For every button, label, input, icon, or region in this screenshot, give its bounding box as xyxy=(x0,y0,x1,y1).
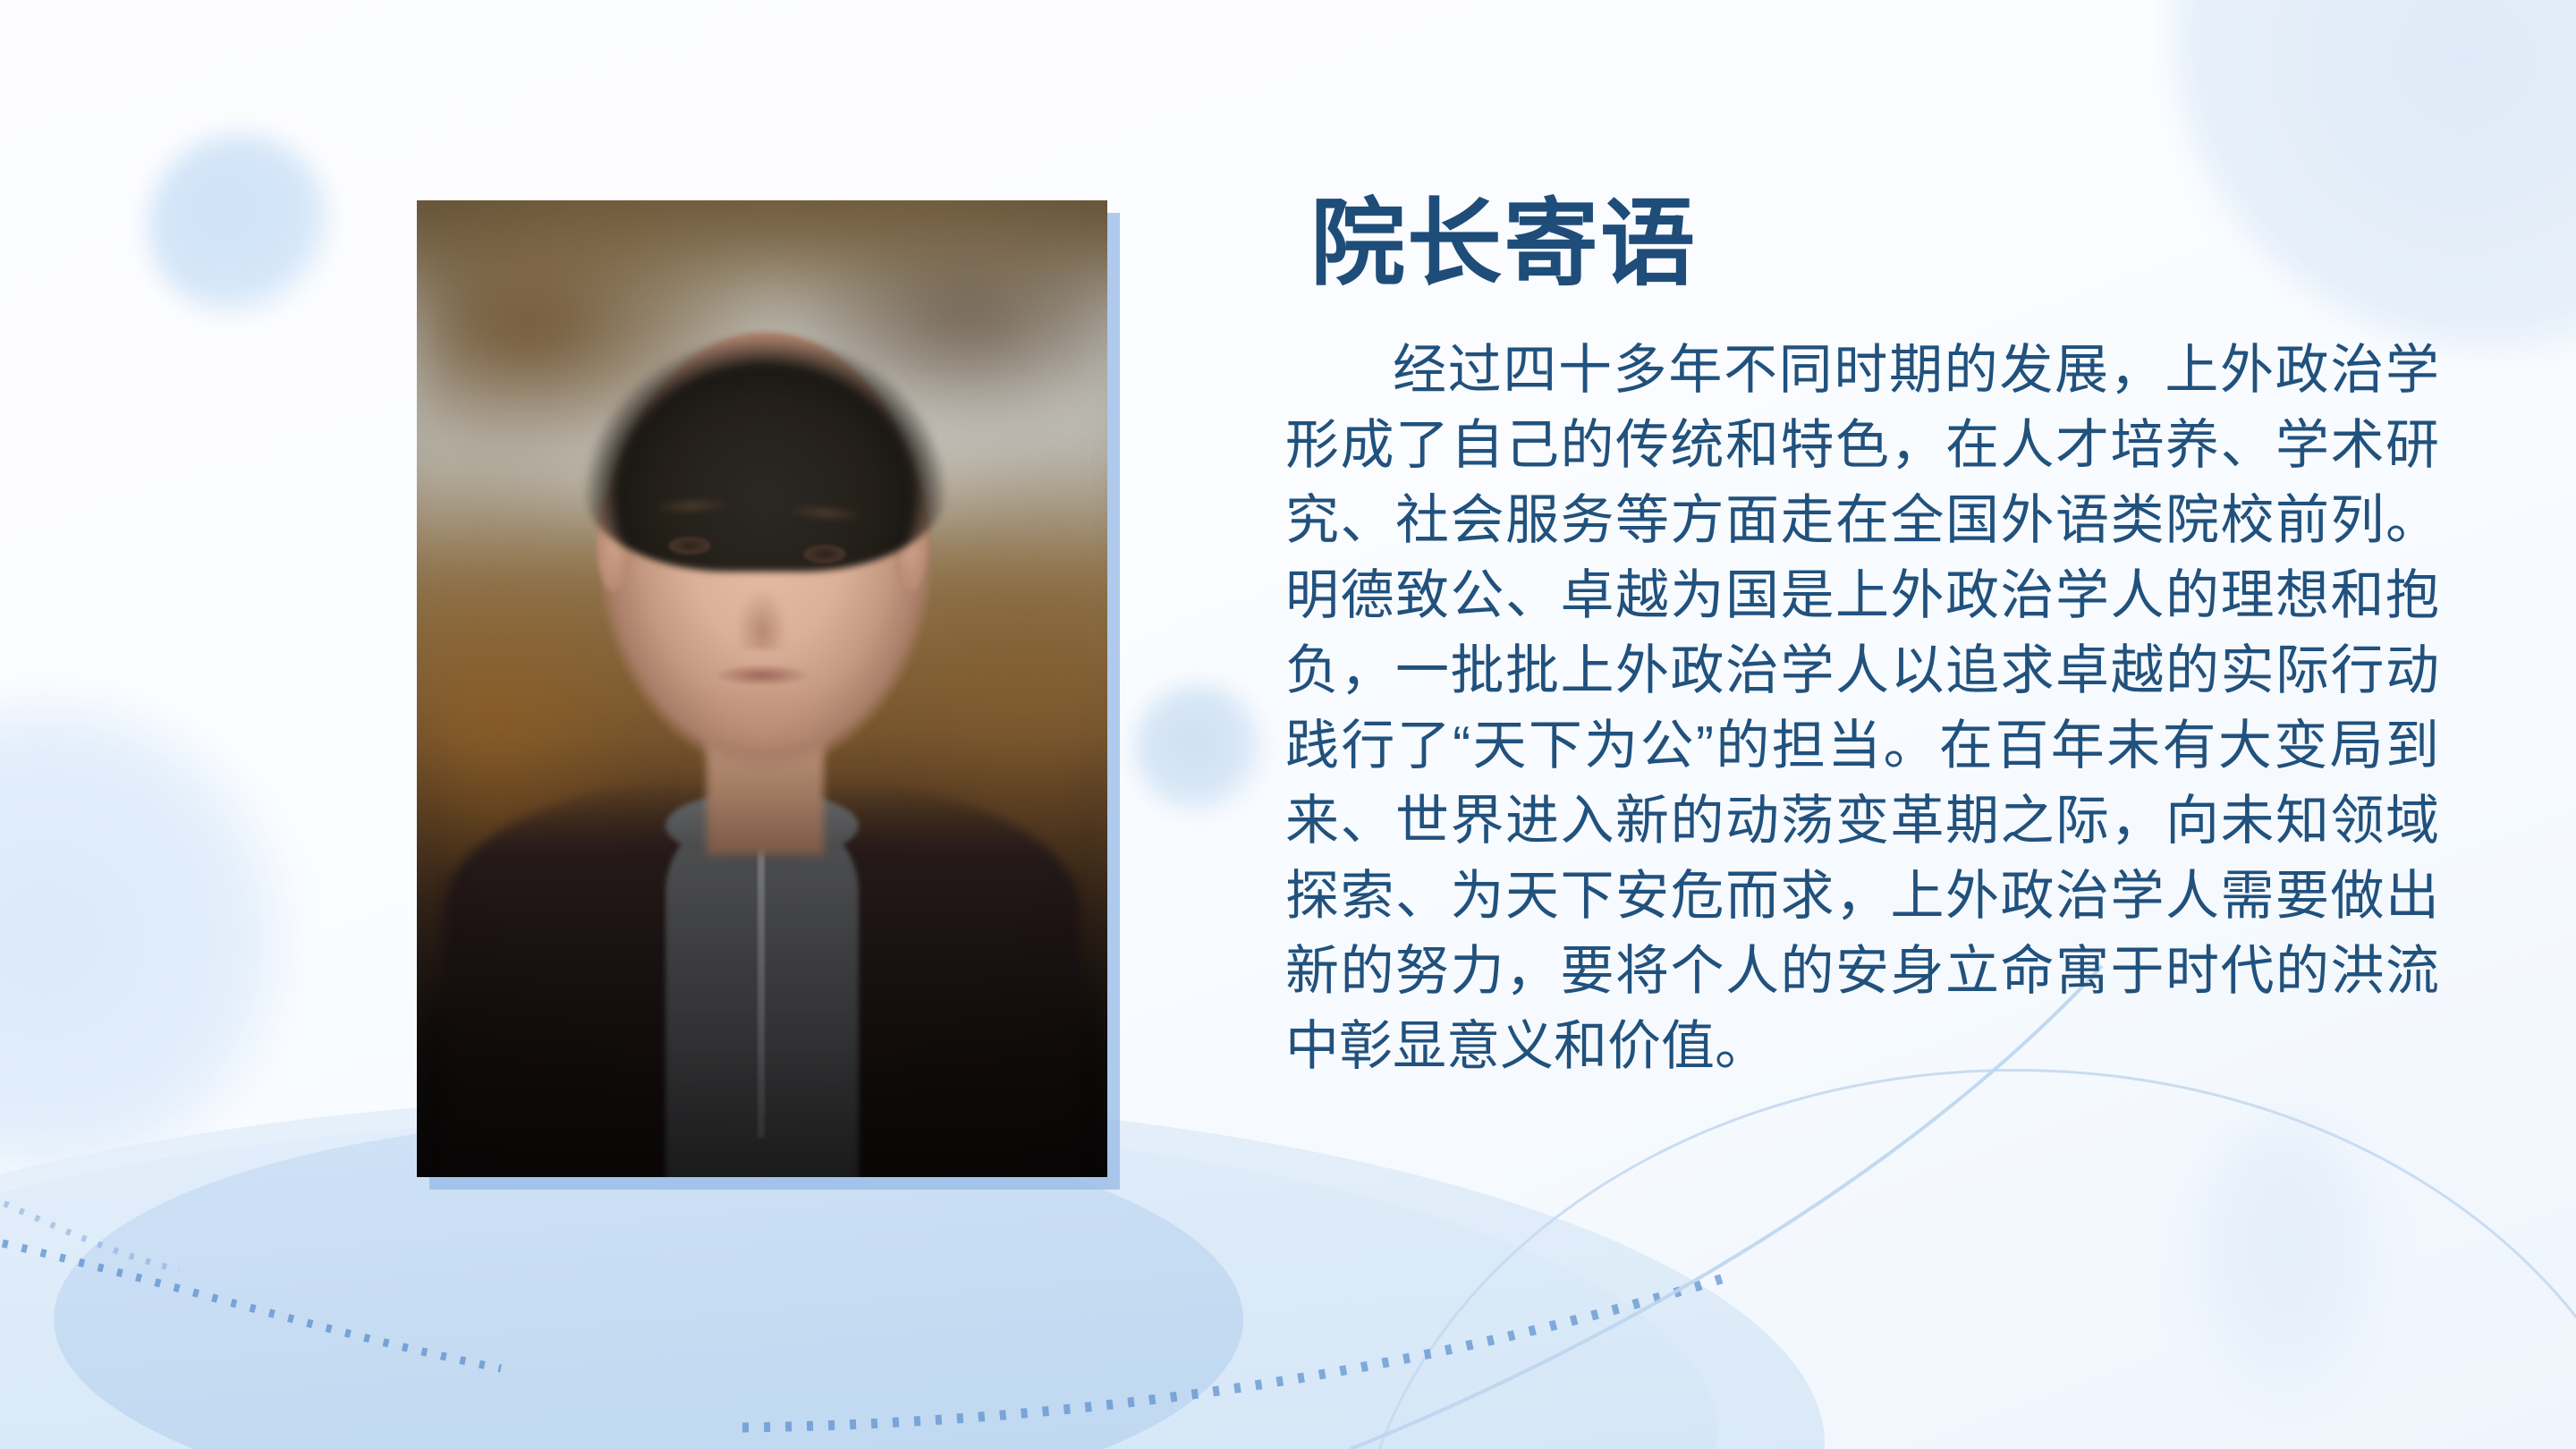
decor-arc-line-right xyxy=(1351,1069,2576,1449)
message-paragraph: 经过四十多年不同时期的发展，上外政治学形成了自己的传统和特色，在人才培养、学术研… xyxy=(1285,333,2439,1084)
message-body: 经过四十多年不同时期的发展，上外政治学形成了自己的传统和特色，在人才培养、学术研… xyxy=(1285,333,2439,1084)
portrait-vignette xyxy=(417,200,1107,1177)
slide-root: 院长寄语 经过四十多年不同时期的发展，上外政治学形成了自己的传统和特色，在人才培… xyxy=(0,0,2576,1449)
dashed-curve-bottom-center xyxy=(742,1275,1735,1428)
dashed-curve-far-left xyxy=(0,1190,179,1270)
decor-circle-mid-small xyxy=(1134,684,1264,814)
decor-circle-bottom-right xyxy=(2182,1114,2388,1409)
message-content: 院长寄语 经过四十多年不同时期的发展，上外政治学形成了自己的传统和特色，在人才培… xyxy=(1285,192,2439,1084)
dashed-curve-lower-left xyxy=(0,1234,501,1368)
portrait-image xyxy=(417,200,1107,1177)
page-title: 院长寄语 xyxy=(1310,192,2439,299)
portrait-photo xyxy=(417,200,1107,1177)
decor-circle-upper-left xyxy=(148,134,331,318)
decor-circle-left-large xyxy=(0,689,295,1190)
